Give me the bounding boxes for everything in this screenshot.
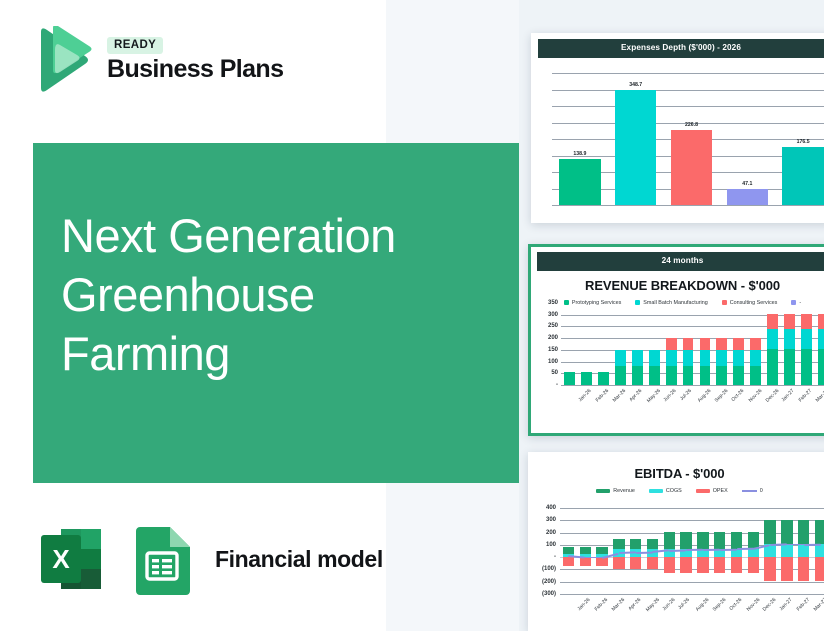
bar-segment-opex[interactable] [781, 557, 792, 581]
x-axis-label: Mar-26 [611, 597, 626, 612]
bar-segment-opex[interactable] [630, 557, 641, 569]
gridline [560, 508, 824, 509]
play-triangle-logo-icon [31, 26, 94, 94]
bar-segment-revenue[interactable] [630, 539, 641, 549]
chart-card-revenue-breakdown[interactable]: 24 months REVENUE BREAKDOWN - $'000 Prot… [528, 244, 824, 436]
bar-segment-opex[interactable] [714, 557, 725, 573]
gridline [552, 73, 824, 74]
y-axis-tick: 300 [535, 312, 558, 318]
bar-value-label: 226.8 [685, 122, 698, 128]
bar-segment-0[interactable] [598, 372, 609, 385]
bar-segment-opex[interactable] [580, 557, 591, 566]
bar-0[interactable] [559, 159, 600, 205]
bar-segment-opex[interactable] [563, 557, 574, 566]
x-axis-label: Aug-26 [695, 597, 711, 613]
bar-2[interactable] [671, 130, 712, 205]
gridline [561, 385, 824, 386]
bar-segment-revenue[interactable] [815, 520, 824, 544]
bar-segment-0[interactable] [801, 349, 812, 385]
chart-card-expenses-depth[interactable]: Expenses Depth ($'000) - 2026 138.9348.7… [531, 33, 824, 223]
financial-model-row[interactable]: X Financial model [33, 521, 383, 597]
bar-1[interactable] [615, 90, 656, 205]
x-axis-label: Oct-26 [730, 388, 745, 403]
y-axis-tick: (200) [532, 579, 556, 585]
x-axis-label: Oct-26 [728, 597, 743, 612]
bar-segment-0[interactable] [666, 366, 677, 385]
bar-segment-revenue[interactable] [714, 532, 725, 549]
legend-swatch-icon [649, 489, 663, 493]
y-axis-tick: 150 [535, 347, 558, 353]
legend-item-2[interactable]: OPEX [696, 488, 728, 494]
x-axis-label: Feb-27 [798, 388, 813, 403]
gridline [552, 106, 824, 107]
bar-segment-0[interactable] [716, 366, 727, 385]
y-axis-tick: (100) [532, 566, 556, 572]
bar-segment-0[interactable] [733, 366, 744, 385]
bar-segment-0[interactable] [818, 349, 824, 385]
chart-header-expenses: Expenses Depth ($'000) - 2026 [538, 39, 824, 58]
bar-segment-revenue[interactable] [781, 520, 792, 544]
bar-segment-1[interactable] [615, 350, 626, 366]
bar-segment-cogs[interactable] [815, 544, 824, 558]
bar-segment-0[interactable] [632, 366, 643, 385]
legend-swatch-icon [696, 489, 710, 493]
zero-trend-line-segment [636, 551, 653, 553]
chart-header-revenue: 24 months [537, 252, 824, 271]
bar-value-label: 348.7 [629, 82, 642, 88]
bar-segment-opex[interactable] [764, 557, 775, 581]
axis-baseline [552, 205, 824, 206]
zero-trend-line-segment [703, 549, 720, 551]
bar-segment-2[interactable] [666, 338, 677, 350]
bar-segment-opex[interactable] [798, 557, 809, 581]
bar-segment-0[interactable] [683, 366, 694, 385]
y-axis-tick: 200 [532, 530, 556, 536]
x-axis-label: Jun-26 [661, 597, 676, 612]
page-title: Next Generation Greenhouse Farming [61, 206, 491, 384]
x-axis-label: Mar-27 [815, 388, 824, 403]
bar-segment-2[interactable] [733, 338, 744, 350]
bar-segment-2[interactable] [784, 314, 795, 329]
svg-text:X: X [52, 544, 70, 574]
bar-3[interactable] [727, 189, 768, 205]
bar-segment-cogs[interactable] [798, 544, 809, 558]
bar-segment-revenue[interactable] [764, 520, 775, 544]
chart-card-ebitda[interactable]: EBITDA - $'000 RevenueCOGSOPEX0 40030020… [528, 452, 824, 631]
bar-value-label: 47.1 [742, 181, 752, 187]
bar-segment-0[interactable] [564, 372, 575, 385]
bar-segment-opex[interactable] [815, 557, 824, 581]
bar-segment-revenue[interactable] [680, 532, 691, 549]
legend-label: 0 [760, 488, 763, 494]
zero-trend-line-segment [720, 548, 737, 550]
legend-item-0[interactable]: Revenue [596, 488, 635, 494]
bar-segment-revenue[interactable] [798, 520, 809, 544]
bar-segment-1[interactable] [733, 350, 744, 366]
bar-segment-opex[interactable] [613, 557, 624, 569]
bar-segment-1[interactable] [632, 350, 643, 366]
zero-trend-line-segment [585, 557, 602, 559]
bar-segment-2[interactable] [801, 314, 812, 329]
bar-segment-0[interactable] [581, 372, 592, 385]
x-axis-label: Apr-26 [627, 597, 642, 612]
bar-segment-1[interactable] [750, 350, 761, 366]
brand-name: Business Plans [107, 56, 283, 82]
financial-model-label: Financial model [215, 546, 383, 573]
x-axis-label: May-26 [645, 597, 661, 613]
bar-segment-revenue[interactable] [596, 547, 607, 554]
bar-segment-2[interactable] [683, 338, 694, 350]
x-axis-label: Feb-26 [595, 388, 610, 403]
zero-trend-line-segment [686, 549, 703, 551]
y-axis-tick: 400 [532, 505, 556, 511]
brand-text-group: READY Business Plans [107, 37, 283, 82]
x-axis-label: Mar-27 [812, 597, 824, 612]
y-axis-tick: 250 [535, 323, 558, 329]
bar-segment-1[interactable] [784, 329, 795, 349]
zero-trend-line-segment [669, 549, 686, 551]
y-axis-tick: - [532, 554, 556, 560]
bar-segment-1[interactable] [818, 329, 824, 349]
bar-segment-2[interactable] [750, 338, 761, 350]
x-axis-label: Sep-26 [712, 597, 728, 613]
legend-label: OPEX [713, 488, 728, 494]
chart-plot-revenue: 35030025020015010050-Jan-26Feb-26Mar-26A… [535, 303, 824, 407]
zero-trend-line-segment [804, 543, 821, 545]
x-axis-label: Jun-26 [662, 388, 677, 403]
bar-segment-2[interactable] [767, 314, 778, 329]
legend-label: Revenue [613, 488, 635, 494]
bar-segment-1[interactable] [801, 329, 812, 349]
bar-segment-0[interactable] [784, 349, 795, 385]
x-axis-label: Sep-26 [713, 388, 729, 404]
gridline [560, 582, 824, 583]
bar-segment-0[interactable] [615, 366, 626, 385]
chart-plot-ebitda: 400300200100-(100)(200)(300)Jan-26Feb-26… [532, 508, 824, 618]
y-axis-tick: 50 [535, 370, 558, 376]
bar-segment-revenue[interactable] [563, 547, 574, 554]
bar-segment-1[interactable] [666, 350, 677, 366]
bar-segment-0[interactable] [767, 349, 778, 385]
chart-plot-expenses: 138.9348.7226.847.1176.5 [540, 73, 824, 213]
bar-segment-revenue[interactable] [664, 532, 675, 549]
bar-segment-1[interactable] [683, 350, 694, 366]
x-axis-label: Dec-26 [764, 388, 780, 404]
x-axis-label: Jan-27 [779, 597, 794, 612]
bar-segment-0[interactable] [649, 366, 660, 385]
x-axis-label: Nov-26 [745, 597, 761, 613]
x-axis-label: Aug-26 [696, 388, 712, 404]
bar-segment-1[interactable] [716, 350, 727, 366]
bar-segment-1[interactable] [767, 329, 778, 349]
x-axis-label: Jan-27 [781, 388, 796, 403]
brand-logo-group[interactable]: READY Business Plans [31, 26, 283, 94]
x-axis-label: Feb-27 [796, 597, 811, 612]
bar-segment-revenue[interactable] [613, 539, 624, 549]
x-axis-label: Jan-26 [578, 388, 593, 403]
gridline [560, 594, 824, 595]
bar-segment-2[interactable] [818, 314, 824, 329]
x-axis-label: Jan-26 [577, 597, 592, 612]
legend-swatch-icon [596, 489, 610, 493]
hero-panel: Next Generation Greenhouse Farming [33, 143, 519, 483]
x-axis-label: Jul-26 [677, 597, 691, 611]
bar-segment-revenue[interactable] [731, 532, 742, 549]
legend-item-1[interactable]: COGS [649, 488, 682, 494]
y-axis-tick: 200 [535, 335, 558, 341]
x-axis-label: Nov-26 [747, 388, 763, 404]
legend-swatch-icon [742, 490, 757, 492]
bar-value-label: 138.9 [573, 151, 586, 157]
chart-title-revenue: REVENUE BREAKDOWN - $'000 [531, 278, 824, 293]
gridline [552, 90, 824, 91]
bar-segment-opex[interactable] [748, 557, 759, 573]
zero-trend-line-segment [787, 544, 804, 546]
x-axis-label: Feb-26 [594, 597, 609, 612]
y-axis-tick: 100 [532, 542, 556, 548]
bar-segment-opex[interactable] [680, 557, 691, 573]
bar-segment-opex[interactable] [647, 557, 658, 569]
bar-segment-opex[interactable] [697, 557, 708, 573]
ready-badge: READY [107, 37, 163, 54]
x-axis-label: Mar-26 [612, 388, 627, 403]
legend-item-3[interactable]: 0 [742, 488, 763, 494]
bar-segment-2[interactable] [700, 338, 711, 350]
y-axis-tick: 300 [532, 517, 556, 523]
microsoft-excel-icon: X [33, 521, 109, 597]
google-sheets-icon [128, 521, 196, 597]
legend-label: COGS [666, 488, 682, 494]
bar-segment-revenue[interactable] [697, 532, 708, 549]
x-axis-label: May-26 [646, 388, 662, 404]
x-axis-label: Apr-26 [628, 388, 643, 403]
y-axis-tick: (300) [532, 591, 556, 597]
bar-segment-cogs[interactable] [781, 544, 792, 558]
bar-segment-1[interactable] [649, 350, 660, 366]
bar-segment-cogs[interactable] [748, 549, 759, 558]
bar-4[interactable] [782, 147, 823, 205]
bar-value-label: 176.5 [797, 139, 810, 145]
x-axis-label: Jul-26 [679, 388, 693, 402]
bar-segment-1[interactable] [700, 350, 711, 366]
chart-legend-ebitda: RevenueCOGSOPEX0 [528, 488, 824, 494]
y-axis-tick: 100 [535, 359, 558, 365]
bar-segment-revenue[interactable] [647, 539, 658, 549]
bar-segment-opex[interactable] [731, 557, 742, 573]
bar-segment-2[interactable] [716, 338, 727, 350]
bar-segment-revenue[interactable] [580, 547, 591, 554]
bar-segment-0[interactable] [700, 366, 711, 385]
bar-segment-opex[interactable] [664, 557, 675, 573]
x-axis-label: Dec-26 [762, 597, 778, 613]
y-axis-tick: - [535, 382, 558, 388]
bar-segment-0[interactable] [750, 366, 761, 385]
chart-title-ebitda: EBITDA - $'000 [528, 466, 824, 481]
y-axis-tick: 350 [535, 300, 558, 306]
